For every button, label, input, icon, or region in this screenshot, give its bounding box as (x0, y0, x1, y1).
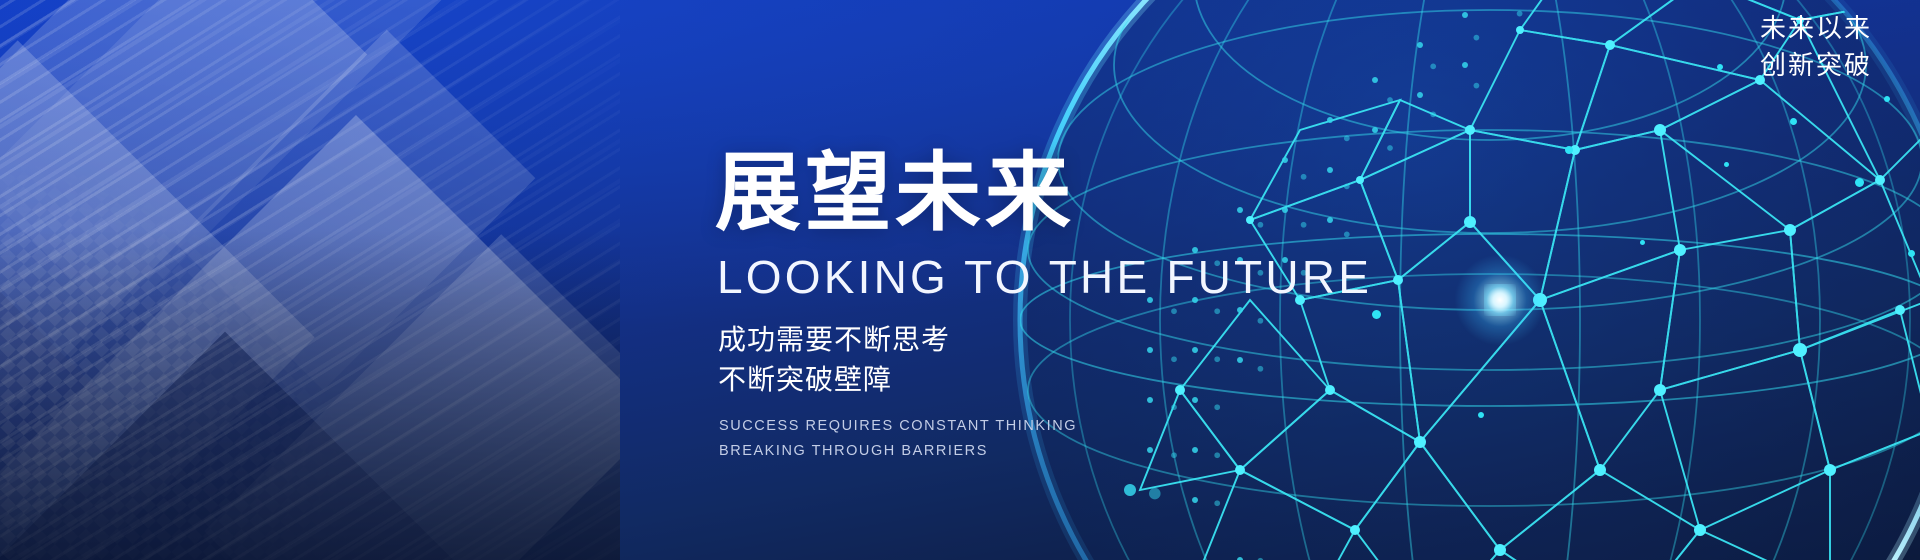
corner-slogan-line1: 未来以来 (1760, 10, 1872, 47)
tagline-en-line1: SUCCESS REQUIRES CONSTANT THINKING (719, 414, 1415, 439)
diagonal-stripe-lines (0, 0, 620, 560)
ambient-dot (1478, 412, 1484, 418)
decor-plate (0, 192, 113, 560)
tagline-cn-line1: 成功需要不断思考 (718, 320, 1415, 360)
headline-block: 展望未来 LOOKING TO THE FUTURE 成功需要不断思考 不断突破… (715, 150, 1415, 464)
decor-plate (0, 0, 485, 325)
tagline-cn-line2: 不断突破壁障 (718, 360, 1415, 400)
decor-plate (0, 115, 620, 560)
decor-plate (204, 234, 620, 560)
ambient-dot (1565, 146, 1573, 154)
ambient-dot (1717, 64, 1723, 70)
promo-banner: 未来以来 创新突破 展望未来 LOOKING TO THE FUTURE 成功需… (0, 0, 1920, 560)
tagline-en-line2: BREAKING THROUGH BARRIERS (719, 439, 1415, 464)
decor-plate (0, 0, 367, 422)
ambient-dot (1640, 240, 1645, 245)
rim-light-flare (1455, 255, 1545, 345)
decor-plate (175, 30, 536, 391)
corner-slogan: 未来以来 创新突破 (1760, 10, 1872, 84)
ambient-dot (1790, 118, 1797, 125)
corner-slogan-line2: 创新突破 (1760, 47, 1872, 84)
ambient-dot (1884, 96, 1890, 102)
tagline-en: SUCCESS REQUIRES CONSTANT THINKING BREAK… (719, 414, 1415, 465)
ambient-dot (1724, 162, 1729, 167)
diagonal-stripe-lines (0, 0, 620, 560)
left-vignette (0, 230, 620, 560)
page-title: 展望未来 (715, 150, 1415, 236)
ambient-dot (1855, 178, 1864, 187)
checker-dot-pattern (0, 101, 474, 560)
left-geometric-decoration (0, 0, 620, 560)
decor-plate (0, 40, 315, 560)
tagline-cn: 成功需要不断思考 不断突破壁障 (718, 320, 1415, 400)
page-subtitle-en: LOOKING TO THE FUTURE (717, 254, 1415, 300)
decor-plate (0, 332, 458, 560)
rim-light-core (1484, 284, 1516, 316)
ambient-dot (1908, 250, 1915, 257)
